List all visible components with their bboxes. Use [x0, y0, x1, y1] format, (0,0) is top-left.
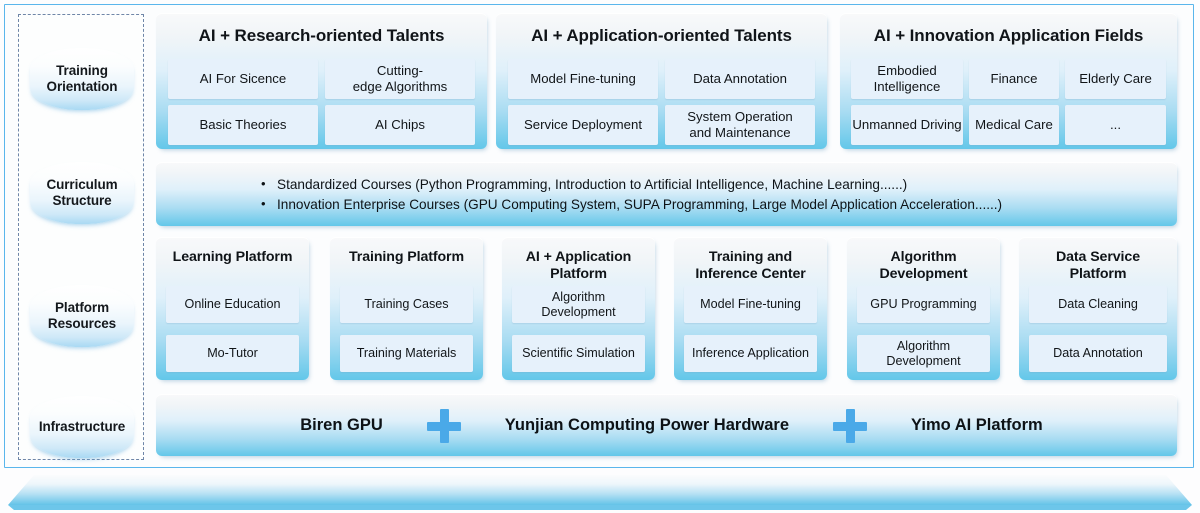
card-title: Learning Platform [156, 249, 309, 266]
card-training-and-inference-center: Training andInference Center Model Fine-… [674, 237, 827, 380]
sidebar-item-training-orientation[interactable]: Training Orientation [30, 48, 134, 110]
chip-item[interactable]: EmbodiedIntelligence [851, 59, 963, 99]
chip-item[interactable]: Data Cleaning [1029, 286, 1167, 323]
chip-item[interactable]: ... [1065, 105, 1166, 145]
chip-item[interactable]: Model Fine-tuning [508, 59, 658, 99]
chip-item[interactable]: Inference Application [684, 335, 817, 372]
infrastructure-item-yimo-ai-platform: Yimo AI Platform [911, 416, 1043, 435]
card-training-platform: Training Platform Training Cases Trainin… [330, 237, 483, 380]
sidebar-item-platform-resources[interactable]: Platform Resources [30, 285, 134, 347]
chip-item[interactable]: Unmanned Driving [851, 105, 963, 145]
card-learning-platform: Learning Platform Online Education Mo-Tu… [156, 237, 309, 380]
infrastructure-item-biren-gpu: Biren GPU [300, 416, 383, 435]
banner-shape-icon [8, 474, 1192, 510]
plus-icon [833, 409, 867, 443]
chip-item[interactable]: Online Education [166, 286, 299, 323]
curriculum-structure-band: • Standardized Courses (Python Programmi… [156, 162, 1177, 226]
chip-item[interactable]: Finance [969, 59, 1059, 99]
bullet-icon: • [261, 195, 277, 213]
chip-item[interactable]: Training Cases [340, 286, 473, 323]
sidebar-dashed-column: Training Orientation Curriculum Structur… [18, 14, 144, 460]
card-ai-application-platform: AI + ApplicationPlatform AlgorithmDevelo… [502, 237, 655, 380]
sidebar-item-curriculum-structure[interactable]: Curriculum Structure [30, 162, 134, 224]
list-item: • Standardized Courses (Python Programmi… [261, 175, 1165, 194]
infrastructure-item-yunjian-hardware: Yunjian Computing Power Hardware [505, 416, 789, 435]
chip-item[interactable]: Data Annotation [1029, 335, 1167, 372]
chip-item[interactable]: Elderly Care [1065, 59, 1166, 99]
card-title: AI + Application-oriented Talents [496, 26, 827, 46]
curriculum-bullet-list: • Standardized Courses (Python Programmi… [261, 175, 1165, 216]
diagram-root: Training Orientation Curriculum Structur… [0, 0, 1200, 513]
infrastructure-band: Biren GPU Yunjian Computing Power Hardwa… [156, 394, 1177, 456]
chip-item[interactable]: Medical Care [969, 105, 1059, 145]
sidebar-item-label: Curriculum Structure [30, 177, 134, 210]
sidebar-item-label: Platform Resources [30, 300, 134, 333]
card-title: Data ServicePlatform [1019, 249, 1177, 283]
card-title: Training andInference Center [674, 249, 827, 283]
card-algorithm-development: AlgorithmDevelopment GPU Programming Alg… [847, 237, 1000, 380]
list-item: • Innovation Enterprise Courses (GPU Com… [261, 195, 1165, 214]
card-title: AI + ApplicationPlatform [502, 249, 655, 283]
chip-item[interactable]: Model Fine-tuning [684, 286, 817, 323]
chip-item[interactable]: System Operationand Maintenance [665, 105, 815, 145]
card-innovation-application-fields: AI + Innovation Application Fields Embod… [840, 13, 1177, 149]
chip-item[interactable]: AI For Sicence [168, 59, 318, 99]
chip-item[interactable]: Basic Theories [168, 105, 318, 145]
sidebar-item-label: Infrastructure [39, 419, 125, 435]
bullet-icon: • [261, 175, 277, 193]
card-title: AI + Innovation Application Fields [840, 26, 1177, 46]
chip-item[interactable]: Cutting-edge Algorithms [325, 59, 475, 99]
plus-icon [427, 409, 461, 443]
card-application-oriented-talents: AI + Application-oriented Talents Model … [496, 13, 827, 149]
chip-item[interactable]: AlgorithmDevelopment [512, 286, 645, 323]
chip-item[interactable]: AlgorithmDevelopment [857, 335, 990, 372]
card-title: AlgorithmDevelopment [847, 249, 1000, 283]
chip-item[interactable]: Scientific Simulation [512, 335, 645, 372]
chip-item[interactable]: Data Annotation [665, 59, 815, 99]
sidebar-item-infrastructure[interactable]: Infrastructure [30, 396, 134, 458]
chip-item[interactable]: Mo-Tutor [166, 335, 299, 372]
bottom-arrow-banner [8, 474, 1192, 510]
chip-item[interactable]: AI Chips [325, 105, 475, 145]
card-data-service-platform: Data ServicePlatform Data Cleaning Data … [1019, 237, 1177, 380]
card-title: AI + Research-oriented Talents [156, 26, 487, 46]
chip-item[interactable]: GPU Programming [857, 286, 990, 323]
chip-item[interactable]: Service Deployment [508, 105, 658, 145]
list-item-label: Standardized Courses (Python Programming… [277, 175, 907, 194]
list-item-label: Innovation Enterprise Courses (GPU Compu… [277, 195, 1002, 214]
chip-item[interactable]: Training Materials [340, 335, 473, 372]
sidebar-item-label: Training Orientation [30, 63, 134, 96]
infrastructure-items: Biren GPU Yunjian Computing Power Hardwa… [156, 409, 1177, 443]
card-research-oriented-talents: AI + Research-oriented Talents AI For Si… [156, 13, 487, 149]
card-title: Training Platform [330, 249, 483, 266]
